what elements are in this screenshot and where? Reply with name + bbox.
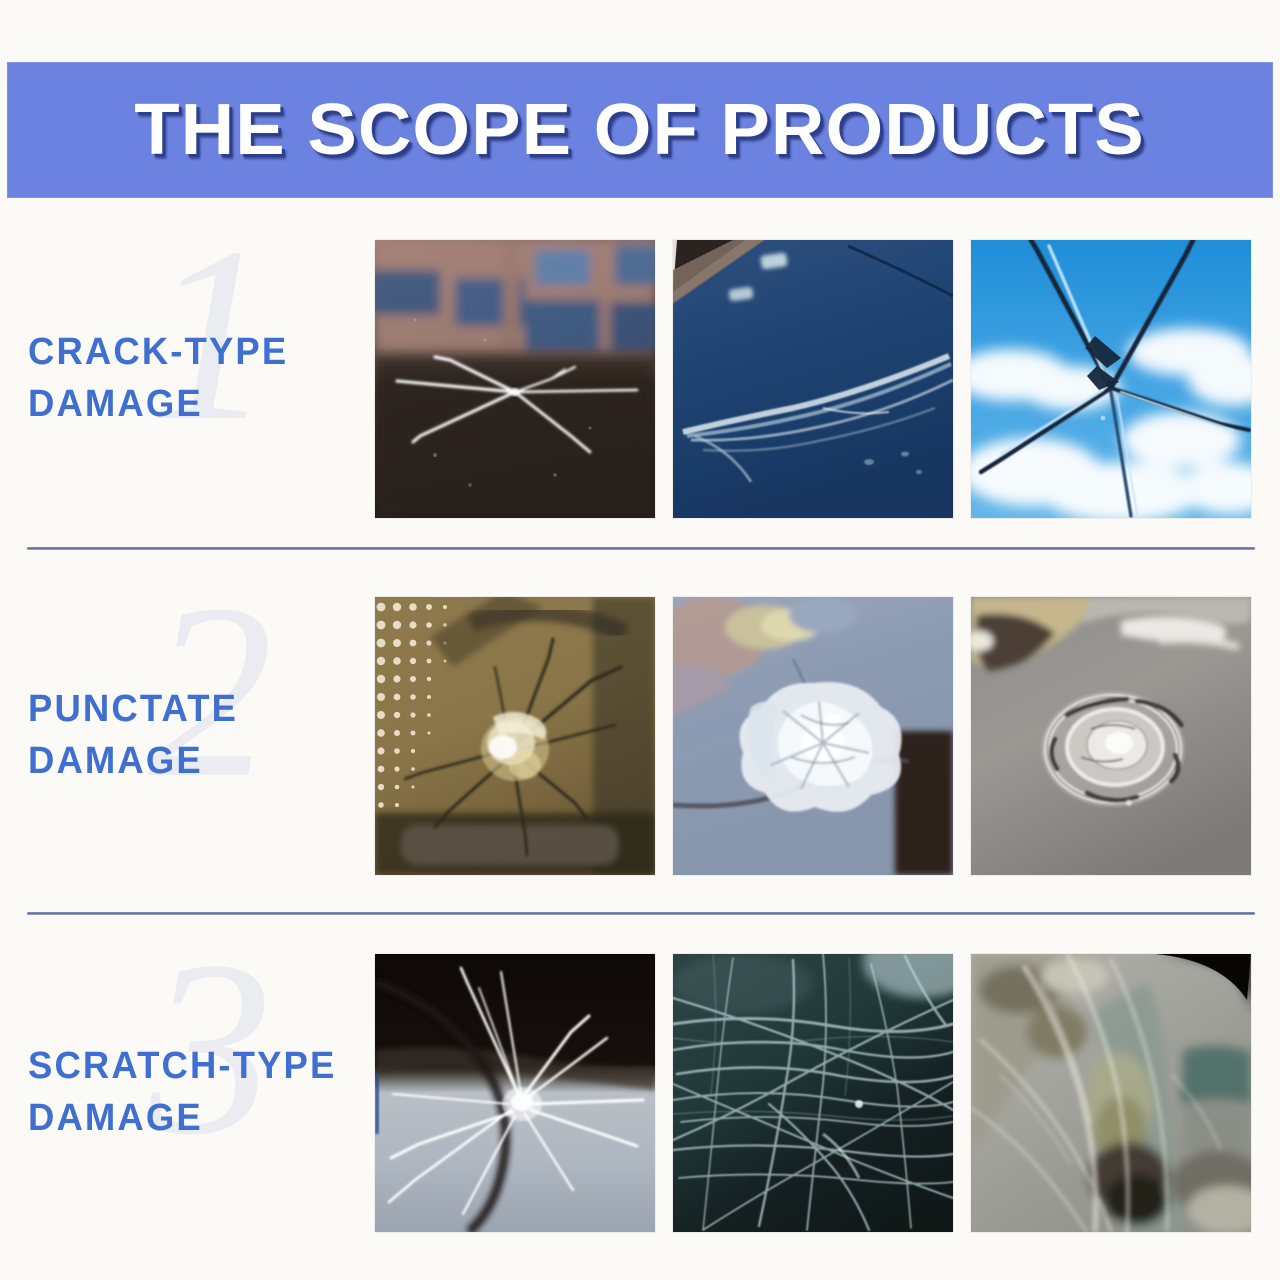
starburst-with-long-scratches-graphic xyxy=(375,954,655,1232)
section-title-line1: SCRATCH-TYPE xyxy=(28,1040,336,1092)
scuffed-curved-glass-surface-graphic xyxy=(971,954,1251,1232)
header-banner: THE SCOPE OF PRODUCTS xyxy=(7,62,1273,198)
flower-shaped-impact-chip-graphic xyxy=(673,597,953,875)
image-tile[interactable] xyxy=(375,597,655,875)
image-tile[interactable] xyxy=(673,954,953,1232)
long-horizontal-crack-on-blue-glass-graphic xyxy=(673,240,953,518)
bullseye-chip-on-olive-glass-graphic xyxy=(375,597,655,875)
section-row-scratch-type: 3 SCRATCH-TYPE DAMAGE xyxy=(0,942,1280,1242)
section-row-punctate: 2 PUNCTATE DAMAGE xyxy=(0,585,1280,885)
section-title-line2: DAMAGE xyxy=(28,378,288,430)
circular-impact-crater-graphic xyxy=(971,597,1251,875)
section-title: CRACK-TYPE DAMAGE xyxy=(28,326,288,431)
section-title: PUNCTATE DAMAGE xyxy=(28,683,238,788)
image-tile[interactable] xyxy=(971,597,1251,875)
image-tiles xyxy=(375,597,1251,875)
image-tile[interactable] xyxy=(971,954,1251,1232)
section-title-line2: DAMAGE xyxy=(28,735,238,787)
page-title: THE SCOPE OF PRODUCTS xyxy=(135,94,1146,166)
section-title-line2: DAMAGE xyxy=(28,1092,336,1144)
image-tiles xyxy=(375,954,1251,1232)
image-tile[interactable] xyxy=(375,240,655,518)
image-tile[interactable] xyxy=(971,240,1251,518)
dense-scratch-web-on-dark-glass-graphic xyxy=(673,954,953,1232)
section-label-block: 1 CRACK-TYPE DAMAGE xyxy=(28,228,373,528)
image-tiles xyxy=(375,240,1251,518)
section-label-block: 2 PUNCTATE DAMAGE xyxy=(28,585,373,885)
section-divider xyxy=(27,912,1255,915)
image-tile[interactable] xyxy=(673,240,953,518)
section-label-block: 3 SCRATCH-TYPE DAMAGE xyxy=(28,942,373,1242)
infographic-page: THE SCOPE OF PRODUCTS 1 CRACK-TYPE DAMAG… xyxy=(0,0,1280,1280)
image-tile[interactable] xyxy=(673,597,953,875)
star-crack-on-dark-tinted-windshield-graphic xyxy=(375,240,655,518)
image-tile[interactable] xyxy=(375,954,655,1232)
radiating-cracks-against-sky-graphic xyxy=(971,240,1251,518)
section-title-line1: CRACK-TYPE xyxy=(28,326,288,378)
section-row-crack-type: 1 CRACK-TYPE DAMAGE xyxy=(0,228,1280,528)
section-title-line1: PUNCTATE xyxy=(28,683,238,735)
section-title: SCRATCH-TYPE DAMAGE xyxy=(28,1040,336,1145)
section-divider xyxy=(27,547,1255,550)
